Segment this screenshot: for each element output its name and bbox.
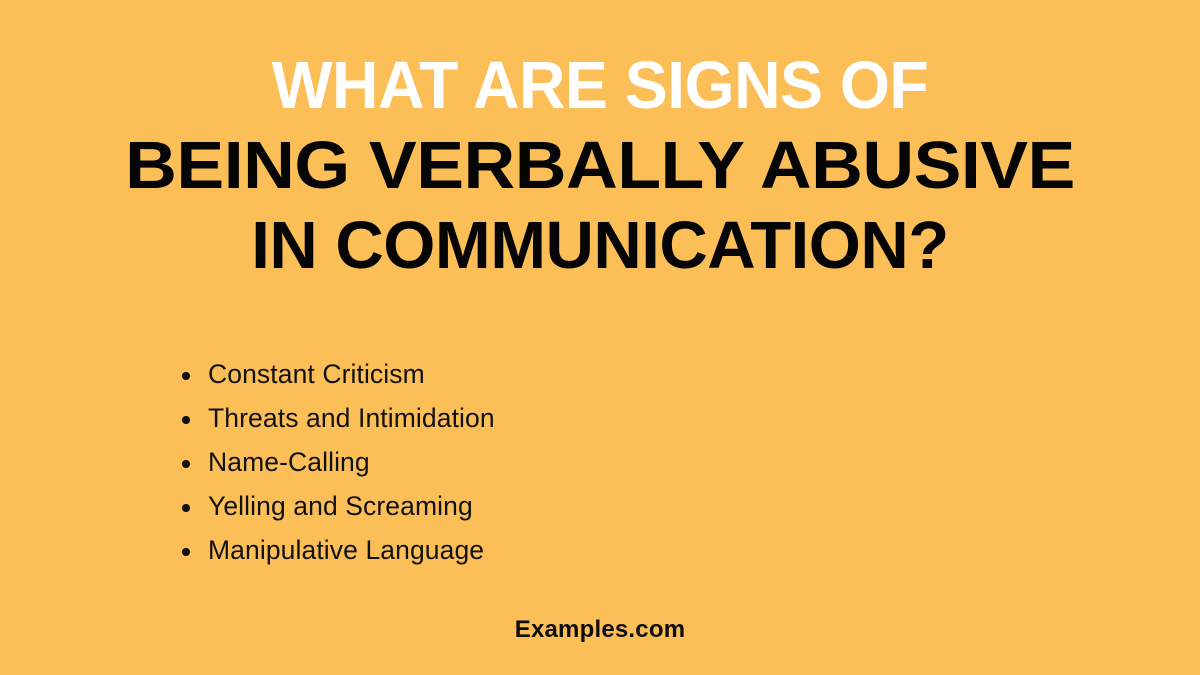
title-line-2: BEING VERBALLY ABUSIVE [0,132,1200,199]
bullet-dot-icon [182,460,190,468]
signs-list: Constant Criticism Threats and Intimidat… [176,352,876,572]
title-line-1: WHAT ARE SIGNS OF [24,52,1176,119]
footer: Examples.com [0,616,1200,644]
bullet-dot-icon [182,372,190,380]
list-item: Name-Calling [176,440,876,484]
signs-list-container: Constant Criticism Threats and Intimidat… [176,352,876,572]
list-item-label: Yelling and Screaming [208,491,473,521]
brand-name: Examples.com [515,616,685,643]
list-item: Constant Criticism [176,352,876,396]
bullet-dot-icon [182,504,190,512]
list-item-label: Manipulative Language [208,535,484,565]
page-title: WHAT ARE SIGNS OF BEING VERBALLY ABUSIVE… [0,52,1200,279]
title-line-3: IN COMMUNICATION? [0,212,1200,279]
bullet-dot-icon [182,548,190,556]
list-item-label: Constant Criticism [208,359,425,389]
infographic-poster: WHAT ARE SIGNS OF BEING VERBALLY ABUSIVE… [0,0,1200,675]
list-item: Threats and Intimidation [176,396,876,440]
bullet-dot-icon [182,416,190,424]
list-item: Yelling and Screaming [176,484,876,528]
list-item: Manipulative Language [176,528,876,572]
list-item-label: Threats and Intimidation [208,403,495,433]
list-item-label: Name-Calling [208,447,370,477]
